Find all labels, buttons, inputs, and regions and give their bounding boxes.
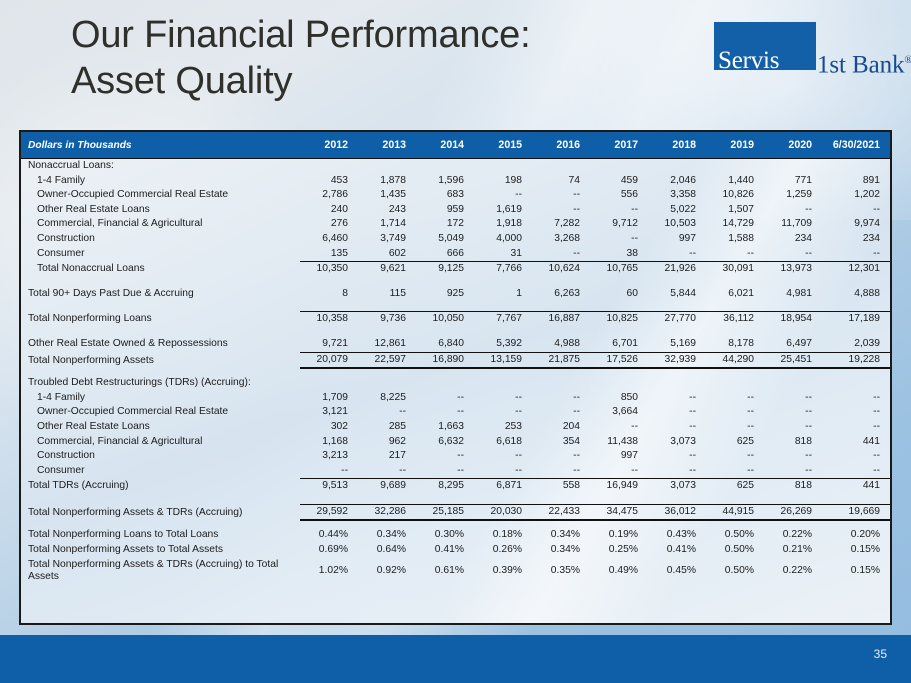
table-spacer-row xyxy=(21,301,890,312)
table-cell: 6,632 xyxy=(416,435,474,450)
spacer-cell xyxy=(358,368,416,376)
table-cell: 44,290 xyxy=(706,352,764,368)
table-cell: -- xyxy=(590,203,648,218)
table-cell: 9,689 xyxy=(358,479,416,494)
table-column-header: 2014 xyxy=(416,132,474,159)
table-cell: 0.18% xyxy=(474,528,532,543)
table-cell: 26,269 xyxy=(764,504,822,520)
table-cell: 0.43% xyxy=(648,528,706,543)
table-cell: 0.34% xyxy=(358,528,416,543)
table-cell: 1,440 xyxy=(706,174,764,189)
table-row: 1-4 Family4531,8781,596198744592,0461,44… xyxy=(21,174,890,189)
table-cell: 9,125 xyxy=(416,262,474,277)
table-cell: 9,513 xyxy=(300,479,358,494)
table-cell: -- xyxy=(358,405,416,420)
table-cell: 1,259 xyxy=(764,188,822,203)
table-cell: -- xyxy=(532,247,590,262)
table-cell xyxy=(532,159,590,174)
row-label: Owner-Occupied Commercial Real Estate xyxy=(21,188,300,203)
table-cell: 10,503 xyxy=(648,217,706,232)
table-cell: -- xyxy=(590,420,648,435)
table-cell: 9,721 xyxy=(300,337,358,352)
table-row: Total TDRs (Accruing)9,5139,6898,2956,87… xyxy=(21,479,890,494)
table-cell: 3,749 xyxy=(358,232,416,247)
spacer-cell xyxy=(300,494,358,505)
table-cell: 10,825 xyxy=(590,312,648,327)
spacer-cell xyxy=(416,494,474,505)
table-cell: -- xyxy=(822,464,890,479)
table-header: Dollars in Thousands 2012201320142015201… xyxy=(21,132,890,159)
table-cell: 2,046 xyxy=(648,174,706,189)
table-cell: -- xyxy=(706,449,764,464)
table-row: Troubled Debt Restructurings (TDRs) (Acc… xyxy=(21,376,890,391)
table-cell: 6,497 xyxy=(764,337,822,352)
spacer-cell xyxy=(474,277,532,287)
table-cell: 0.21% xyxy=(764,543,822,558)
table-row: Total Nonperforming Assets to Total Asse… xyxy=(21,543,890,558)
table-cell: 172 xyxy=(416,217,474,232)
table-cell: 253 xyxy=(474,420,532,435)
table-cell xyxy=(358,376,416,391)
row-label: Commercial, Financial & Agricultural xyxy=(21,435,300,450)
table-cell: -- xyxy=(822,391,890,406)
registered-trademark-icon: ® xyxy=(904,54,911,66)
table-cell: -- xyxy=(648,464,706,479)
table-cell: 9,736 xyxy=(358,312,416,327)
table-cell: 0.64% xyxy=(358,543,416,558)
table-cell: -- xyxy=(648,449,706,464)
logo-word-1st-bank: 1st Bank xyxy=(817,51,904,78)
table-cell: 7,767 xyxy=(474,312,532,327)
table-cell: 18,954 xyxy=(764,312,822,327)
table-cell: 198 xyxy=(474,174,532,189)
table-cell: -- xyxy=(648,391,706,406)
table-cell: -- xyxy=(532,188,590,203)
spacer-cell xyxy=(764,520,822,528)
spacer-cell xyxy=(590,327,648,337)
spacer-cell xyxy=(764,494,822,505)
table-cell: 13,159 xyxy=(474,352,532,368)
table-cell: 302 xyxy=(300,420,358,435)
table-row: Commercial, Financial & Agricultural2761… xyxy=(21,217,890,232)
page-number: 35 xyxy=(874,647,887,661)
table-cell: 135 xyxy=(300,247,358,262)
table-cell: 1,588 xyxy=(706,232,764,247)
spacer-cell xyxy=(706,327,764,337)
table-cell: -- xyxy=(648,420,706,435)
table-cell: 0.30% xyxy=(416,528,474,543)
table-cell: 0.92% xyxy=(358,558,416,585)
table-cell: -- xyxy=(706,420,764,435)
table-cell: 925 xyxy=(416,287,474,302)
spacer-cell xyxy=(300,301,358,312)
table-cell: -- xyxy=(532,464,590,479)
table-cell: 0.69% xyxy=(300,543,358,558)
table-cell xyxy=(474,159,532,174)
table-cell: 240 xyxy=(300,203,358,218)
table-cell: 1,619 xyxy=(474,203,532,218)
table-cell: -- xyxy=(590,232,648,247)
table-row: Other Real Estate Loans2402439591,619---… xyxy=(21,203,890,218)
table-cell: 19,669 xyxy=(822,504,890,520)
table-row: Total Nonperforming Assets20,07922,59716… xyxy=(21,352,890,368)
row-label: Total Nonaccrual Loans xyxy=(21,262,300,277)
table-cell: 818 xyxy=(764,479,822,494)
table-cell: -- xyxy=(764,405,822,420)
table-cell: 10,050 xyxy=(416,312,474,327)
table-cell: 11,709 xyxy=(764,217,822,232)
spacer-cell xyxy=(21,301,300,312)
page-title: Our Financial Performance: Asset Quality xyxy=(71,12,671,104)
row-label: Construction xyxy=(21,449,300,464)
table-cell xyxy=(300,376,358,391)
spacer-cell xyxy=(474,494,532,505)
table-cell: 5,022 xyxy=(648,203,706,218)
table-cell: 1,435 xyxy=(358,188,416,203)
table-spacer-row xyxy=(21,368,890,376)
spacer-cell xyxy=(358,301,416,312)
table-spacer-row xyxy=(21,520,890,528)
table-row: Total Nonperforming Loans to Total Loans… xyxy=(21,528,890,543)
table-column-header: 2018 xyxy=(648,132,706,159)
spacer-cell xyxy=(822,494,890,505)
table-cell: 0.15% xyxy=(822,543,890,558)
spacer-cell xyxy=(648,327,706,337)
spacer-cell xyxy=(822,368,890,376)
table-cell: 3,073 xyxy=(648,479,706,494)
spacer-cell xyxy=(590,277,648,287)
spacer-cell xyxy=(474,520,532,528)
table-row: Consumer-------------------- xyxy=(21,464,890,479)
table-cell: 29,592 xyxy=(300,504,358,520)
table-cell: 7,766 xyxy=(474,262,532,277)
table-cell: 19,228 xyxy=(822,352,890,368)
row-label: Other Real Estate Owned & Repossessions xyxy=(21,337,300,352)
table-cell xyxy=(764,376,822,391)
table-cell: 4,981 xyxy=(764,287,822,302)
table-cell: -- xyxy=(532,203,590,218)
table-cell: -- xyxy=(822,405,890,420)
spacer-cell xyxy=(300,368,358,376)
table-cell: -- xyxy=(532,391,590,406)
table-cell: 25,185 xyxy=(416,504,474,520)
table-cell: 6,701 xyxy=(590,337,648,352)
table-cell: -- xyxy=(822,420,890,435)
table-cell: 3,664 xyxy=(590,405,648,420)
table-cell: 6,263 xyxy=(532,287,590,302)
table-cell: 0.45% xyxy=(648,558,706,585)
spacer-cell xyxy=(416,301,474,312)
table-cell: 3,268 xyxy=(532,232,590,247)
table-cell: 10,765 xyxy=(590,262,648,277)
spacer-cell xyxy=(416,520,474,528)
table-cell: 1,878 xyxy=(358,174,416,189)
table-cell: 0.44% xyxy=(300,528,358,543)
table-column-header: 2017 xyxy=(590,132,648,159)
row-label: Total 90+ Days Past Due & Accruing xyxy=(21,287,300,302)
table-cell: 3,073 xyxy=(648,435,706,450)
table-cell: -- xyxy=(532,449,590,464)
table-cell: 8 xyxy=(300,287,358,302)
table-cell: 16,887 xyxy=(532,312,590,327)
table-cell: 0.50% xyxy=(706,543,764,558)
logo-bank-text: 1st Bank® xyxy=(817,48,911,77)
table-cell: 1,202 xyxy=(822,188,890,203)
spacer-cell xyxy=(532,301,590,312)
table-cell: 959 xyxy=(416,203,474,218)
table-corner-label: Dollars in Thousands xyxy=(21,132,300,159)
spacer-cell xyxy=(358,327,416,337)
table-cell xyxy=(358,159,416,174)
table-cell: 683 xyxy=(416,188,474,203)
table-cell: 10,350 xyxy=(300,262,358,277)
table-cell xyxy=(706,376,764,391)
table-cell: 0.50% xyxy=(706,528,764,543)
spacer-cell xyxy=(764,277,822,287)
asset-quality-table-container: Dollars in Thousands 2012201320142015201… xyxy=(19,130,892,625)
table-row: Total 90+ Days Past Due & Accruing811592… xyxy=(21,287,890,302)
table-cell: 22,433 xyxy=(532,504,590,520)
row-label: Owner-Occupied Commercial Real Estate xyxy=(21,405,300,420)
table-cell: 36,112 xyxy=(706,312,764,327)
spacer-cell xyxy=(416,277,474,287)
table-cell: 6,021 xyxy=(706,287,764,302)
table-cell: 6,460 xyxy=(300,232,358,247)
table-cell xyxy=(416,376,474,391)
table-cell: 9,974 xyxy=(822,217,890,232)
spacer-cell xyxy=(474,368,532,376)
table-row: Other Real Estate Loans3022851,663253204… xyxy=(21,420,890,435)
spacer-cell xyxy=(706,277,764,287)
table-cell: 17,526 xyxy=(590,352,648,368)
table-cell: -- xyxy=(764,247,822,262)
footer-bar: 35 xyxy=(0,635,911,683)
spacer-cell xyxy=(590,494,648,505)
spacer-cell xyxy=(764,327,822,337)
table-cell: 441 xyxy=(822,435,890,450)
table-cell: 5,169 xyxy=(648,337,706,352)
table-cell: 0.39% xyxy=(474,558,532,585)
spacer-cell xyxy=(474,327,532,337)
table-cell: -- xyxy=(764,391,822,406)
spacer-cell xyxy=(416,327,474,337)
table-cell: 997 xyxy=(648,232,706,247)
table-cell: 0.26% xyxy=(474,543,532,558)
spacer-cell xyxy=(300,277,358,287)
table-cell: 115 xyxy=(358,287,416,302)
table-row: Total Nonperforming Loans10,3589,73610,0… xyxy=(21,312,890,327)
table-cell: -- xyxy=(706,405,764,420)
table-row: Total Nonperforming Assets & TDRs (Accru… xyxy=(21,558,890,585)
table-cell: 22,597 xyxy=(358,352,416,368)
table-cell: -- xyxy=(474,405,532,420)
table-spacer-row xyxy=(21,277,890,287)
table-cell: 0.49% xyxy=(590,558,648,585)
table-spacer-row xyxy=(21,327,890,337)
spacer-cell xyxy=(822,277,890,287)
table-cell: 17,189 xyxy=(822,312,890,327)
spacer-cell xyxy=(474,301,532,312)
table-cell: 666 xyxy=(416,247,474,262)
spacer-cell xyxy=(532,368,590,376)
table-cell: -- xyxy=(648,405,706,420)
spacer-cell xyxy=(358,494,416,505)
table-cell: 9,621 xyxy=(358,262,416,277)
table-cell: 217 xyxy=(358,449,416,464)
table-cell: -- xyxy=(822,449,890,464)
spacer-cell xyxy=(648,494,706,505)
table-column-header: 2020 xyxy=(764,132,822,159)
spacer-cell xyxy=(358,520,416,528)
table-cell: 8,295 xyxy=(416,479,474,494)
row-label: Consumer xyxy=(21,247,300,262)
table-cell: 20,030 xyxy=(474,504,532,520)
table-cell: 818 xyxy=(764,435,822,450)
table-cell: -- xyxy=(416,405,474,420)
table-cell: 10,358 xyxy=(300,312,358,327)
spacer-cell xyxy=(822,520,890,528)
table-cell: 1,168 xyxy=(300,435,358,450)
table-cell: 31 xyxy=(474,247,532,262)
spacer-cell xyxy=(706,520,764,528)
table-cell: 8,178 xyxy=(706,337,764,352)
table-row: 1-4 Family1,7098,225------850-------- xyxy=(21,391,890,406)
table-cell: -- xyxy=(706,247,764,262)
table-body: Nonaccrual Loans:1-4 Family4531,8781,596… xyxy=(21,159,890,585)
spacer-cell xyxy=(532,520,590,528)
table-cell: 10,624 xyxy=(532,262,590,277)
spacer-cell xyxy=(21,494,300,505)
table-row: Other Real Estate Owned & Repossessions9… xyxy=(21,337,890,352)
spacer-cell xyxy=(822,301,890,312)
table-cell: 771 xyxy=(764,174,822,189)
row-label: Total Nonperforming Assets to Total Asse… xyxy=(21,543,300,558)
table-row: Construction3,213217------997-------- xyxy=(21,449,890,464)
spacer-cell xyxy=(764,301,822,312)
table-cell: 5,844 xyxy=(648,287,706,302)
table-cell: -- xyxy=(764,203,822,218)
table-cell: -- xyxy=(474,464,532,479)
table-cell: 1,663 xyxy=(416,420,474,435)
row-label: Nonaccrual Loans: xyxy=(21,159,300,174)
table-row: Total Nonaccrual Loans10,3509,6219,1257,… xyxy=(21,262,890,277)
spacer-cell xyxy=(590,301,648,312)
spacer-cell xyxy=(21,520,300,528)
table-cell: 44,915 xyxy=(706,504,764,520)
table-cell: 8,225 xyxy=(358,391,416,406)
table-cell xyxy=(822,159,890,174)
table-cell: 7,282 xyxy=(532,217,590,232)
row-label: Other Real Estate Loans xyxy=(21,420,300,435)
table-cell: 0.34% xyxy=(532,528,590,543)
table-cell: 3,358 xyxy=(648,188,706,203)
table-cell: -- xyxy=(706,391,764,406)
table-cell: 16,890 xyxy=(416,352,474,368)
table-cell: 11,438 xyxy=(590,435,648,450)
table-cell: 997 xyxy=(590,449,648,464)
spacer-cell xyxy=(300,520,358,528)
table-cell xyxy=(764,159,822,174)
row-label: 1-4 Family xyxy=(21,391,300,406)
table-cell: -- xyxy=(590,464,648,479)
table-cell xyxy=(648,159,706,174)
table-cell: 6,618 xyxy=(474,435,532,450)
spacer-cell xyxy=(706,301,764,312)
table-cell: -- xyxy=(532,405,590,420)
table-cell: 234 xyxy=(822,232,890,247)
table-cell: 0.22% xyxy=(764,528,822,543)
row-label: Total Nonperforming Loans xyxy=(21,312,300,327)
table-row: Owner-Occupied Commercial Real Estate3,1… xyxy=(21,405,890,420)
table-cell xyxy=(300,159,358,174)
table-cell: 234 xyxy=(764,232,822,247)
table-cell: 459 xyxy=(590,174,648,189)
table-row: Total Nonperforming Assets & TDRs (Accru… xyxy=(21,504,890,520)
table-cell: 0.19% xyxy=(590,528,648,543)
row-label: 1-4 Family xyxy=(21,174,300,189)
table-cell: -- xyxy=(300,464,358,479)
table-cell: -- xyxy=(416,449,474,464)
servisfirst-bank-logo: Servis 1st Bank® xyxy=(714,22,889,80)
table-header-row: Dollars in Thousands 2012201320142015201… xyxy=(21,132,890,159)
table-cell: 9,712 xyxy=(590,217,648,232)
table-cell: 36,012 xyxy=(648,504,706,520)
table-cell: 0.41% xyxy=(648,543,706,558)
spacer-cell xyxy=(648,277,706,287)
table-row: Nonaccrual Loans: xyxy=(21,159,890,174)
table-cell: 1 xyxy=(474,287,532,302)
table-cell: -- xyxy=(416,464,474,479)
spacer-cell xyxy=(21,368,300,376)
table-cell: 1,714 xyxy=(358,217,416,232)
logo-servis-text: Servis xyxy=(718,48,779,73)
table-spacer-row xyxy=(21,494,890,505)
table-cell: 30,091 xyxy=(706,262,764,277)
table-row: Construction6,4603,7495,0494,0003,268--9… xyxy=(21,232,890,247)
table-cell: 27,770 xyxy=(648,312,706,327)
table-row: Consumer13560266631--38-------- xyxy=(21,247,890,262)
table-cell: 34,475 xyxy=(590,504,648,520)
table-cell: 962 xyxy=(358,435,416,450)
table-cell: 10,826 xyxy=(706,188,764,203)
table-cell: 21,875 xyxy=(532,352,590,368)
table-cell xyxy=(822,376,890,391)
table-cell: 5,392 xyxy=(474,337,532,352)
table-cell: 204 xyxy=(532,420,590,435)
table-cell: 0.41% xyxy=(416,543,474,558)
table-cell: 243 xyxy=(358,203,416,218)
table-cell xyxy=(532,376,590,391)
table-cell: -- xyxy=(764,420,822,435)
table-cell: 4,988 xyxy=(532,337,590,352)
table-column-header: 6/30/2021 xyxy=(822,132,890,159)
table-cell: 21,926 xyxy=(648,262,706,277)
row-label: Total Nonperforming Assets xyxy=(21,352,300,368)
table-cell: -- xyxy=(822,247,890,262)
table-cell: 1,507 xyxy=(706,203,764,218)
row-label: Consumer xyxy=(21,464,300,479)
table-cell: 0.22% xyxy=(764,558,822,585)
table-cell: 3,213 xyxy=(300,449,358,464)
table-cell: 3,121 xyxy=(300,405,358,420)
spacer-cell xyxy=(648,520,706,528)
table-cell: 0.34% xyxy=(532,543,590,558)
row-label: Total Nonperforming Assets & TDRs (Accru… xyxy=(21,504,300,520)
table-cell: 0.15% xyxy=(822,558,890,585)
table-cell: 25,451 xyxy=(764,352,822,368)
table-cell xyxy=(648,376,706,391)
table-cell: 285 xyxy=(358,420,416,435)
